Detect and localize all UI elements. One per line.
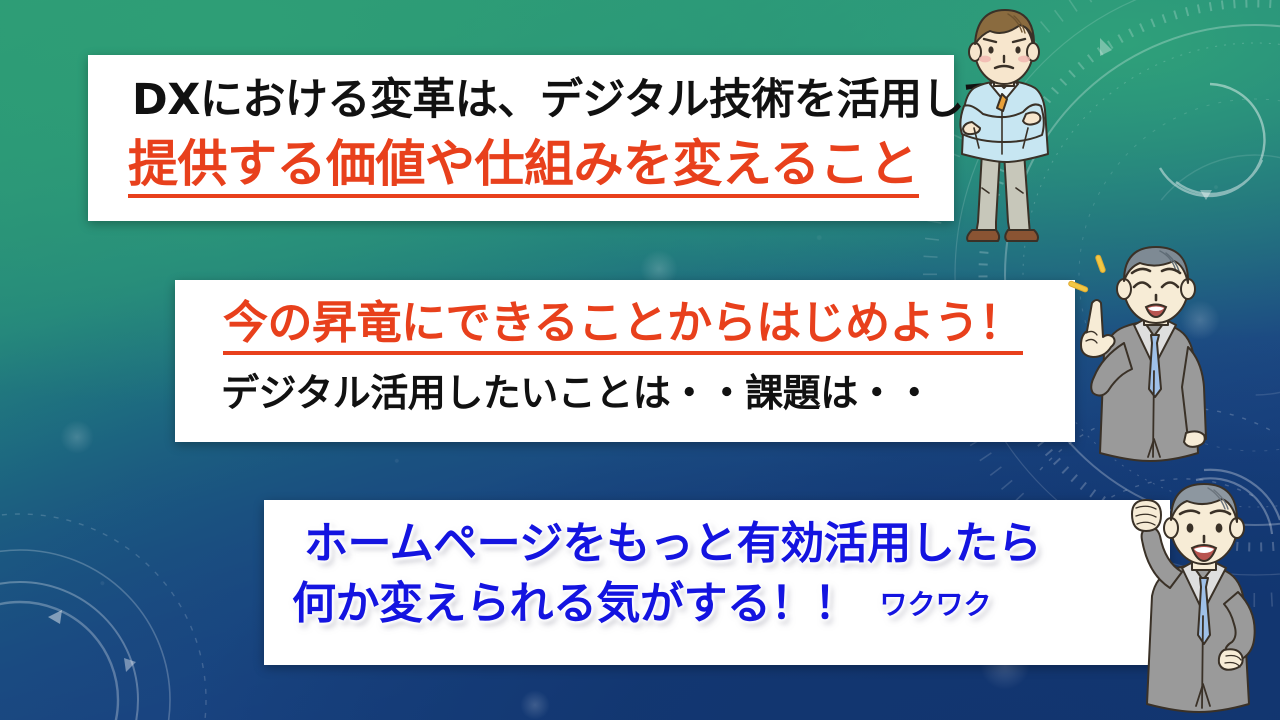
fist-raised-businessman (1112, 472, 1280, 720)
homepage-idea-box: ホームページをもっと有効活用したら 何か変えられる気がする！！ワクワク (264, 500, 1170, 665)
dx-definition-box: DXにおける変革は、デジタル技術を活用して 提供する価値や仕組みを変えること (88, 55, 954, 221)
thinking-man-arms-crossed (930, 2, 1078, 248)
homepage-idea-excitement-note: ワクワク (880, 588, 992, 621)
dx-definition-line-1: DXにおける変革は、デジタル技術を活用して (132, 79, 1005, 122)
call-to-action-subtext: デジタル活用したいことは・・課題は・・ (221, 374, 933, 412)
dx-definition-line-2-highlight: 提供する価値や仕組みを変えること (128, 139, 919, 198)
call-to-action-headline: 今の昇竜にできることからはじめよう！ (223, 300, 1023, 355)
pointing-up-businessman (1062, 243, 1230, 468)
homepage-idea-line-2-main: 何か変えられる気がする！！ (292, 578, 858, 629)
homepage-idea-line-1: ホームページをもっと有効活用したら (304, 522, 1041, 566)
homepage-idea-line-2: 何か変えられる気がする！！ワクワク (292, 582, 992, 626)
sparkle-marks (1068, 255, 1106, 293)
slide-canvas: DXにおける変革は、デジタル技術を活用して 提供する価値や仕組みを変えること 今… (0, 0, 1280, 720)
call-to-action-box: 今の昇竜にできることからはじめよう！ デジタル活用したいことは・・課題は・・ (175, 280, 1075, 442)
